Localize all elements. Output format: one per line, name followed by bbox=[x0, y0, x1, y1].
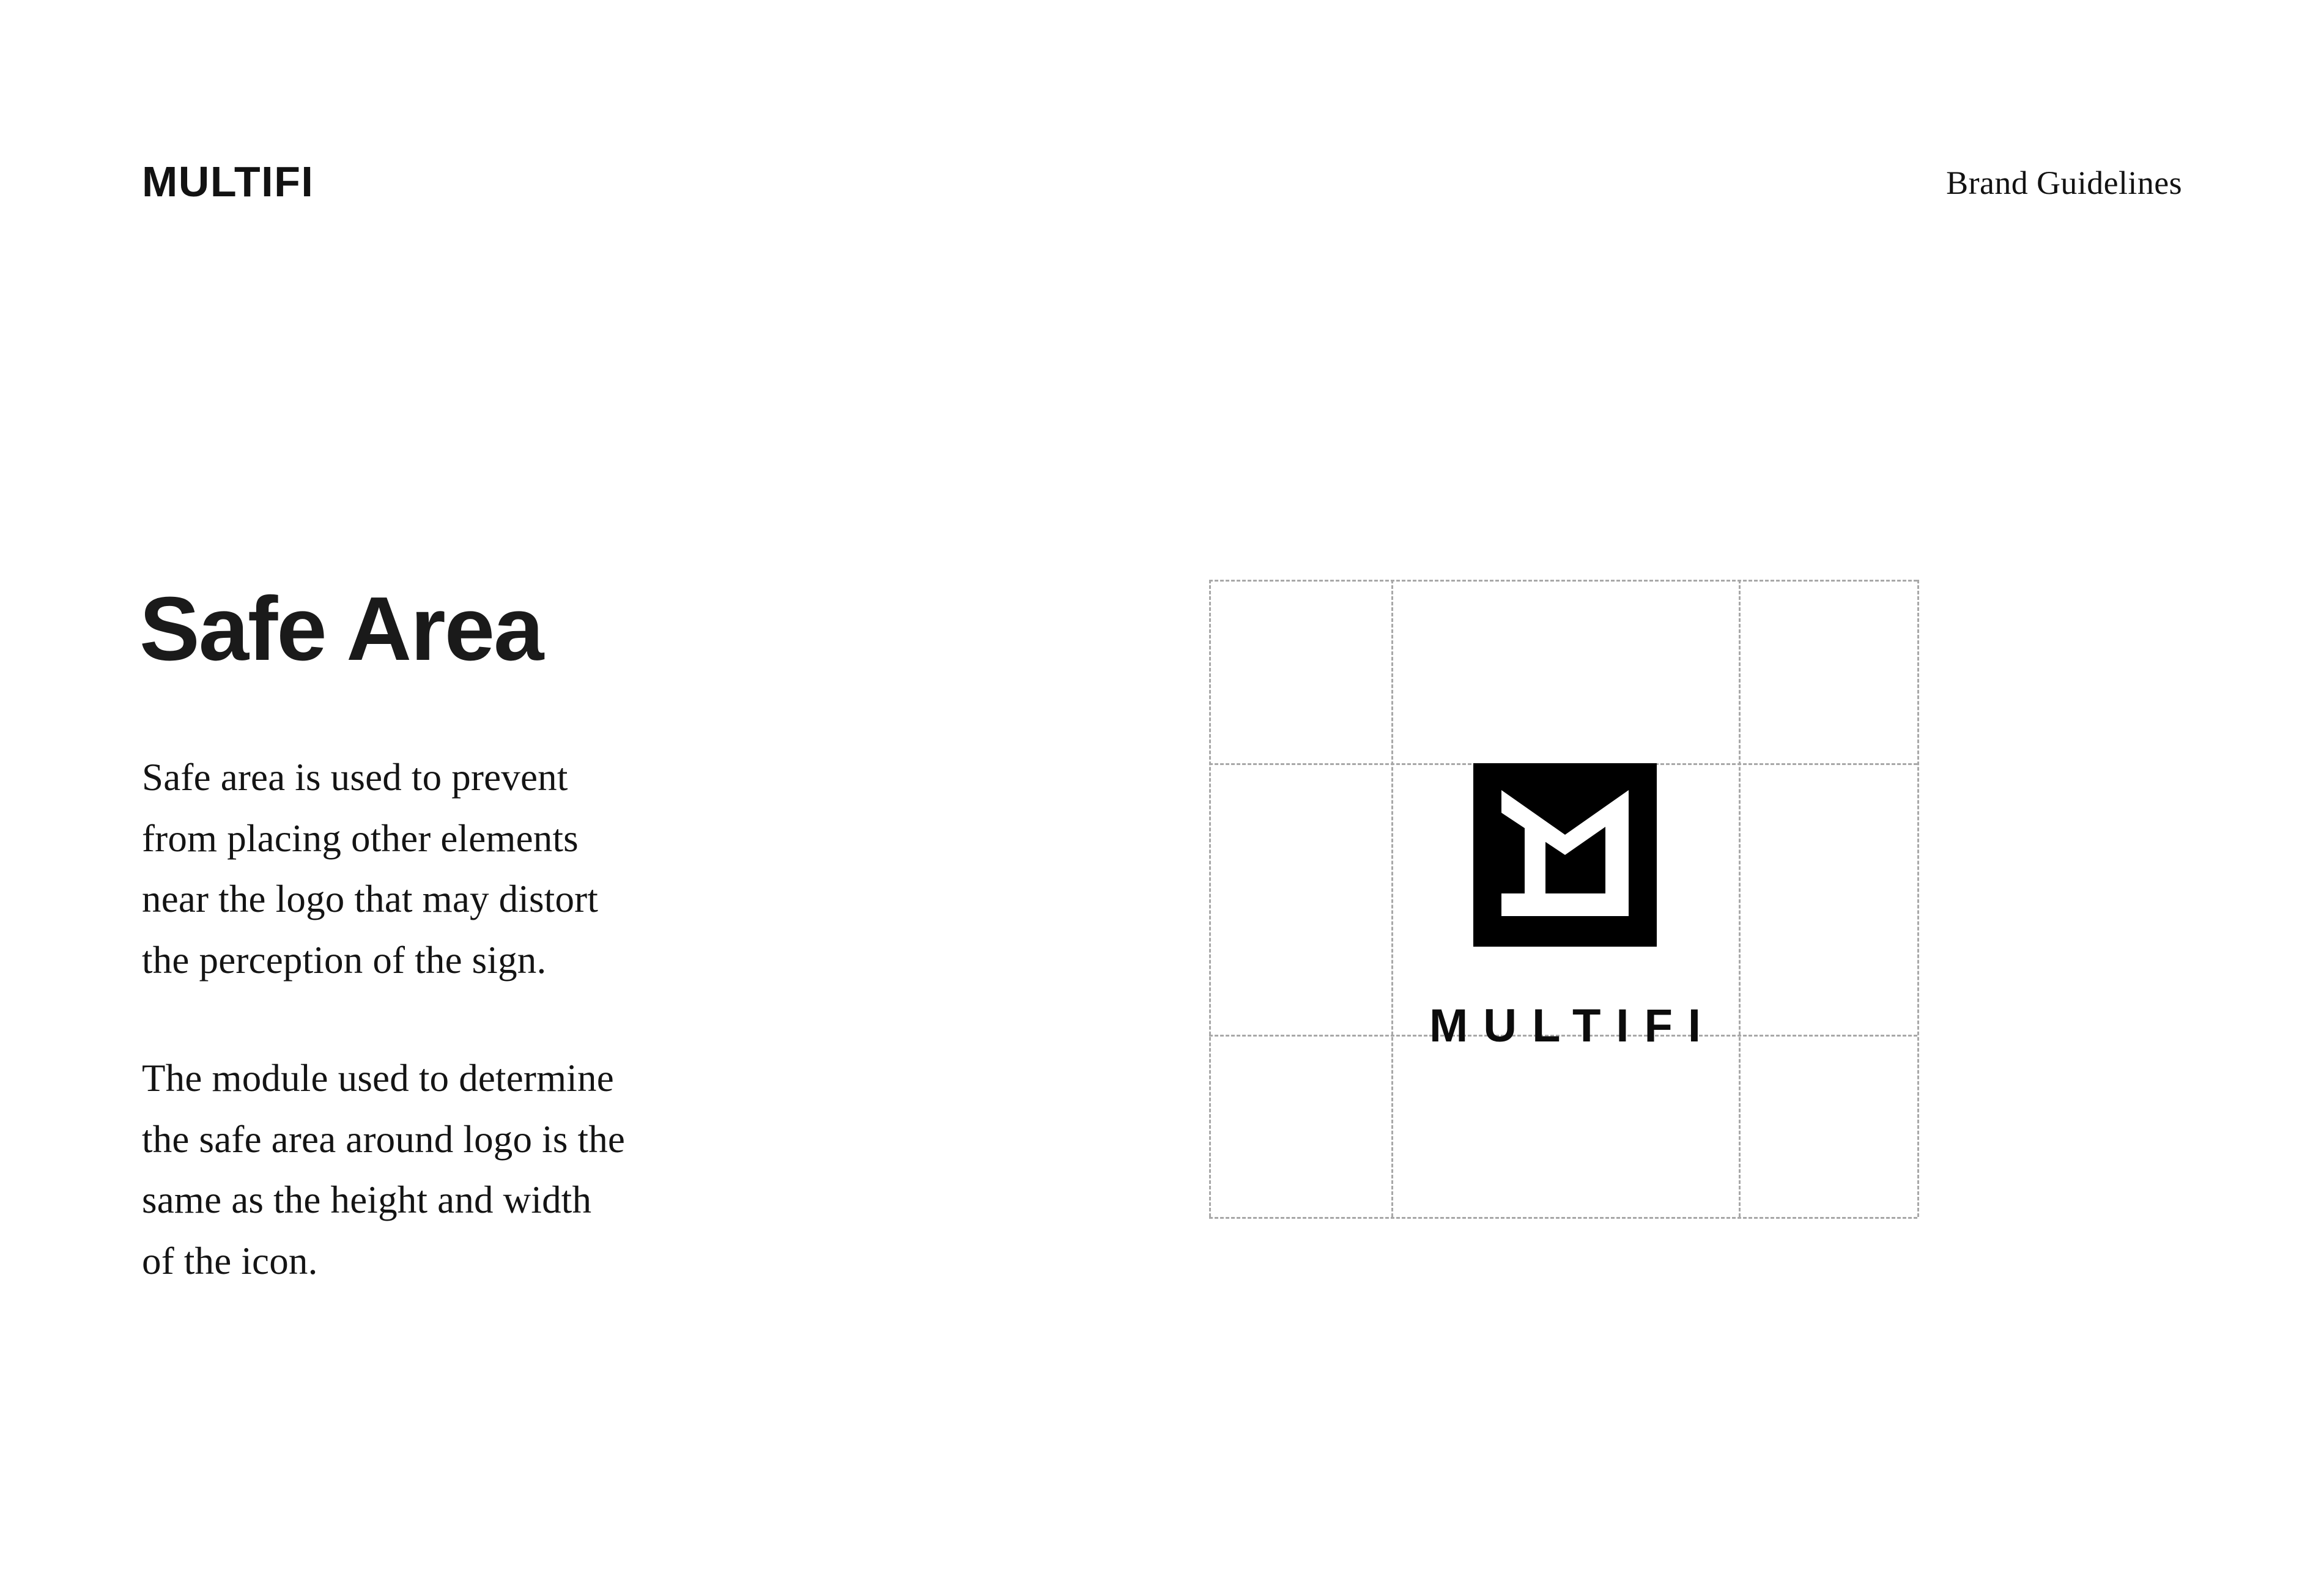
grid-line-horizontal-bottom bbox=[1209, 1217, 1917, 1219]
header-brand-logo: MULTIFI bbox=[142, 160, 314, 203]
body-paragraph-2: The module used to determine the safe ar… bbox=[142, 1048, 876, 1292]
grid-line-vertical-right bbox=[1917, 580, 1919, 1217]
page-title: Safe Area bbox=[139, 582, 542, 678]
logo-lockup: MULTIFI bbox=[1391, 763, 1739, 1049]
body-copy: Safe area is used to prevent from placin… bbox=[142, 747, 876, 1292]
safe-area-grid: MULTIFI bbox=[1209, 580, 1917, 1217]
grid-line-horizontal-top bbox=[1209, 580, 1917, 582]
body-paragraph-1: Safe area is used to prevent from placin… bbox=[142, 747, 876, 991]
logo-wordmark: MULTIFI bbox=[1391, 1003, 1739, 1049]
slide-canvas: MULTIFI Brand Guidelines Safe Area Safe … bbox=[0, 0, 2324, 1590]
header-section-label: Brand Guidelines bbox=[1946, 166, 2182, 199]
grid-line-vertical-left bbox=[1209, 580, 1211, 1217]
grid-line-vertical-inner-right bbox=[1739, 580, 1741, 1217]
multifi-monogram-icon bbox=[1473, 763, 1657, 947]
